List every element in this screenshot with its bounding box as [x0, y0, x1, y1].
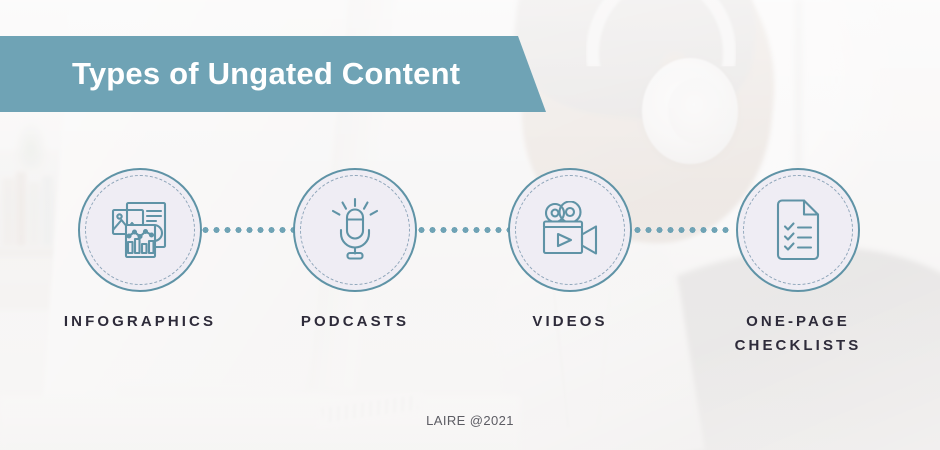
step-infographics[interactable] — [78, 168, 202, 292]
step-videos[interactable] — [508, 168, 632, 292]
step-label-one-page-checklists: ONE-PAGE CHECKLISTS — [678, 310, 918, 358]
step-label-podcasts: PODCASTS — [235, 310, 475, 334]
dotted-connector-1 — [200, 227, 300, 233]
dotted-connector-3 — [632, 227, 732, 233]
step-podcasts[interactable] — [293, 168, 417, 292]
page-title: Types of Ungated Content — [72, 50, 542, 100]
checklist-document-icon — [736, 168, 860, 292]
dotted-connector-2 — [416, 227, 516, 233]
infographic-canvas: Types of Ungated Content — [0, 0, 940, 450]
footer-credit: LAIRE @2021 — [0, 413, 940, 428]
step-label-videos: VIDEOS — [450, 310, 690, 334]
step-one-page-checklists[interactable] — [736, 168, 860, 292]
step-label-infographics: INFOGRAPHICS — [20, 310, 260, 334]
microphone-icon — [293, 168, 417, 292]
movie-camera-icon — [508, 168, 632, 292]
infographic-document-icon — [78, 168, 202, 292]
